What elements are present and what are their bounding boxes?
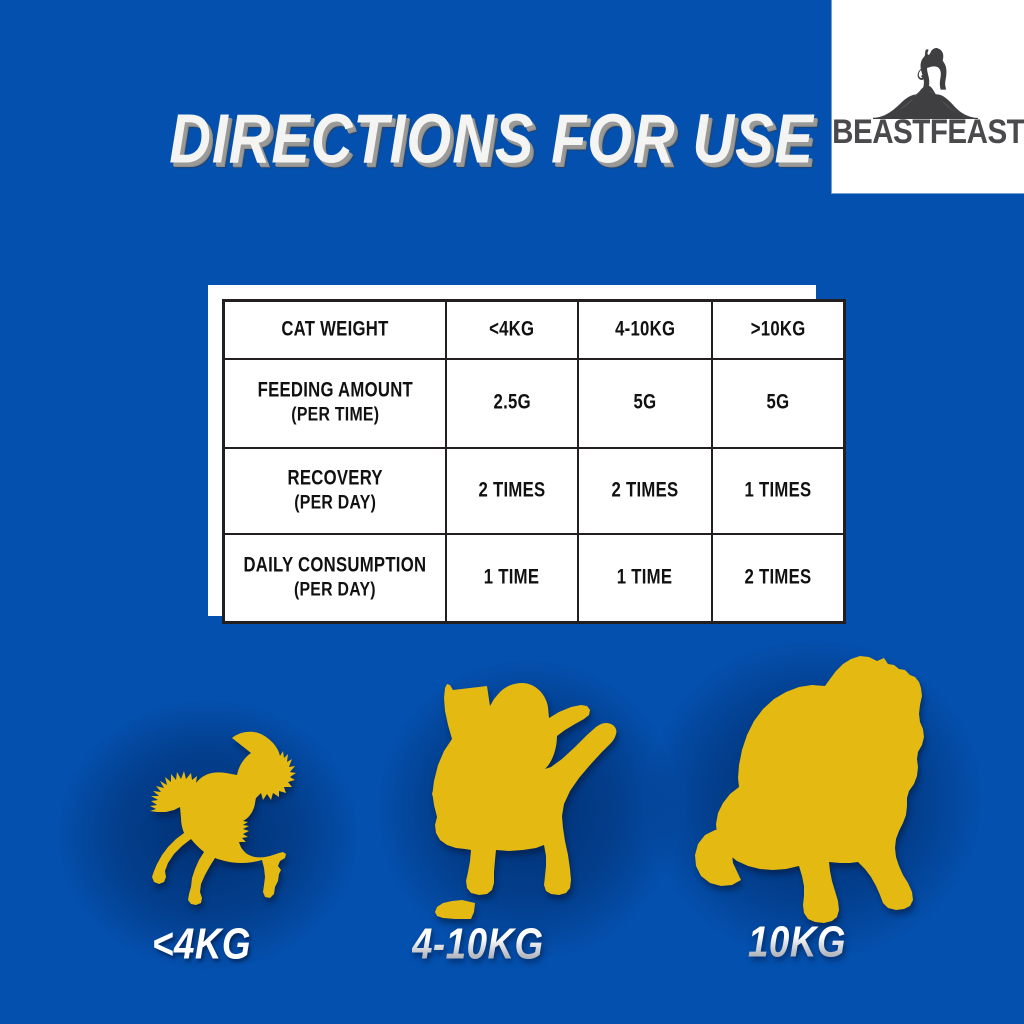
feeding-table-card: CAT WEIGHT <4KG 4-10KG >10KG FEEDING AMO… bbox=[208, 285, 816, 616]
table-cell: 2 TIMES bbox=[578, 448, 712, 534]
table-row: CAT WEIGHT <4KG 4-10KG >10KG bbox=[224, 301, 845, 360]
table-cell: 5G bbox=[712, 359, 845, 448]
medium-dog-silhouette bbox=[424, 672, 620, 930]
feeding-table: CAT WEIGHT <4KG 4-10KG >10KG FEEDING AMO… bbox=[222, 299, 846, 624]
logo-wordmark: BEASTFEAST bbox=[832, 116, 1024, 150]
table-cell: 1 TIME bbox=[446, 534, 578, 623]
table-row-label: RECOVERY(PER DAY) bbox=[224, 448, 447, 534]
table-row: DAILY CONSUMPTION(PER DAY) 1 TIME 1 TIME… bbox=[224, 534, 845, 623]
table-cell: 5G bbox=[578, 359, 712, 448]
weight-label-large: 10KG bbox=[748, 918, 846, 968]
small-dog-silhouette bbox=[84, 728, 314, 928]
table-row-label: FEEDING AMOUNT(PER TIME) bbox=[224, 359, 447, 448]
table-row-label: DAILY CONSUMPTION(PER DAY) bbox=[224, 534, 447, 623]
table-cell: 4-10KG bbox=[578, 301, 712, 360]
weight-label-small: <4KG bbox=[152, 920, 251, 970]
table-cell: <4KG bbox=[446, 301, 578, 360]
table-cell: 2.5G bbox=[446, 359, 578, 448]
table-cell: 2 TIMES bbox=[446, 448, 578, 534]
page-title-text: DIRECTIONS FOR USE bbox=[170, 100, 815, 180]
weight-label-medium: 4-10KG bbox=[412, 920, 544, 970]
table-cell: >10KG bbox=[712, 301, 845, 360]
table-cell: 1 TIME bbox=[578, 534, 712, 623]
directions-for-use-poster: BEASTFEAST DIRECTIONS FOR USE CAT WEIGHT… bbox=[0, 0, 1024, 1024]
large-dog-silhouette bbox=[684, 652, 934, 932]
brand-logo: BEASTFEAST bbox=[832, 0, 1024, 193]
table-cell: 1 TIMES bbox=[712, 448, 845, 534]
lion-on-rock-icon bbox=[853, 46, 1003, 120]
table-row: FEEDING AMOUNT(PER TIME) 2.5G 5G 5G bbox=[224, 359, 845, 448]
table-cell: 2 TIMES bbox=[712, 534, 845, 623]
table-row: RECOVERY(PER DAY) 2 TIMES 2 TIMES 1 TIME… bbox=[224, 448, 845, 534]
table-row-label: CAT WEIGHT bbox=[224, 301, 447, 360]
